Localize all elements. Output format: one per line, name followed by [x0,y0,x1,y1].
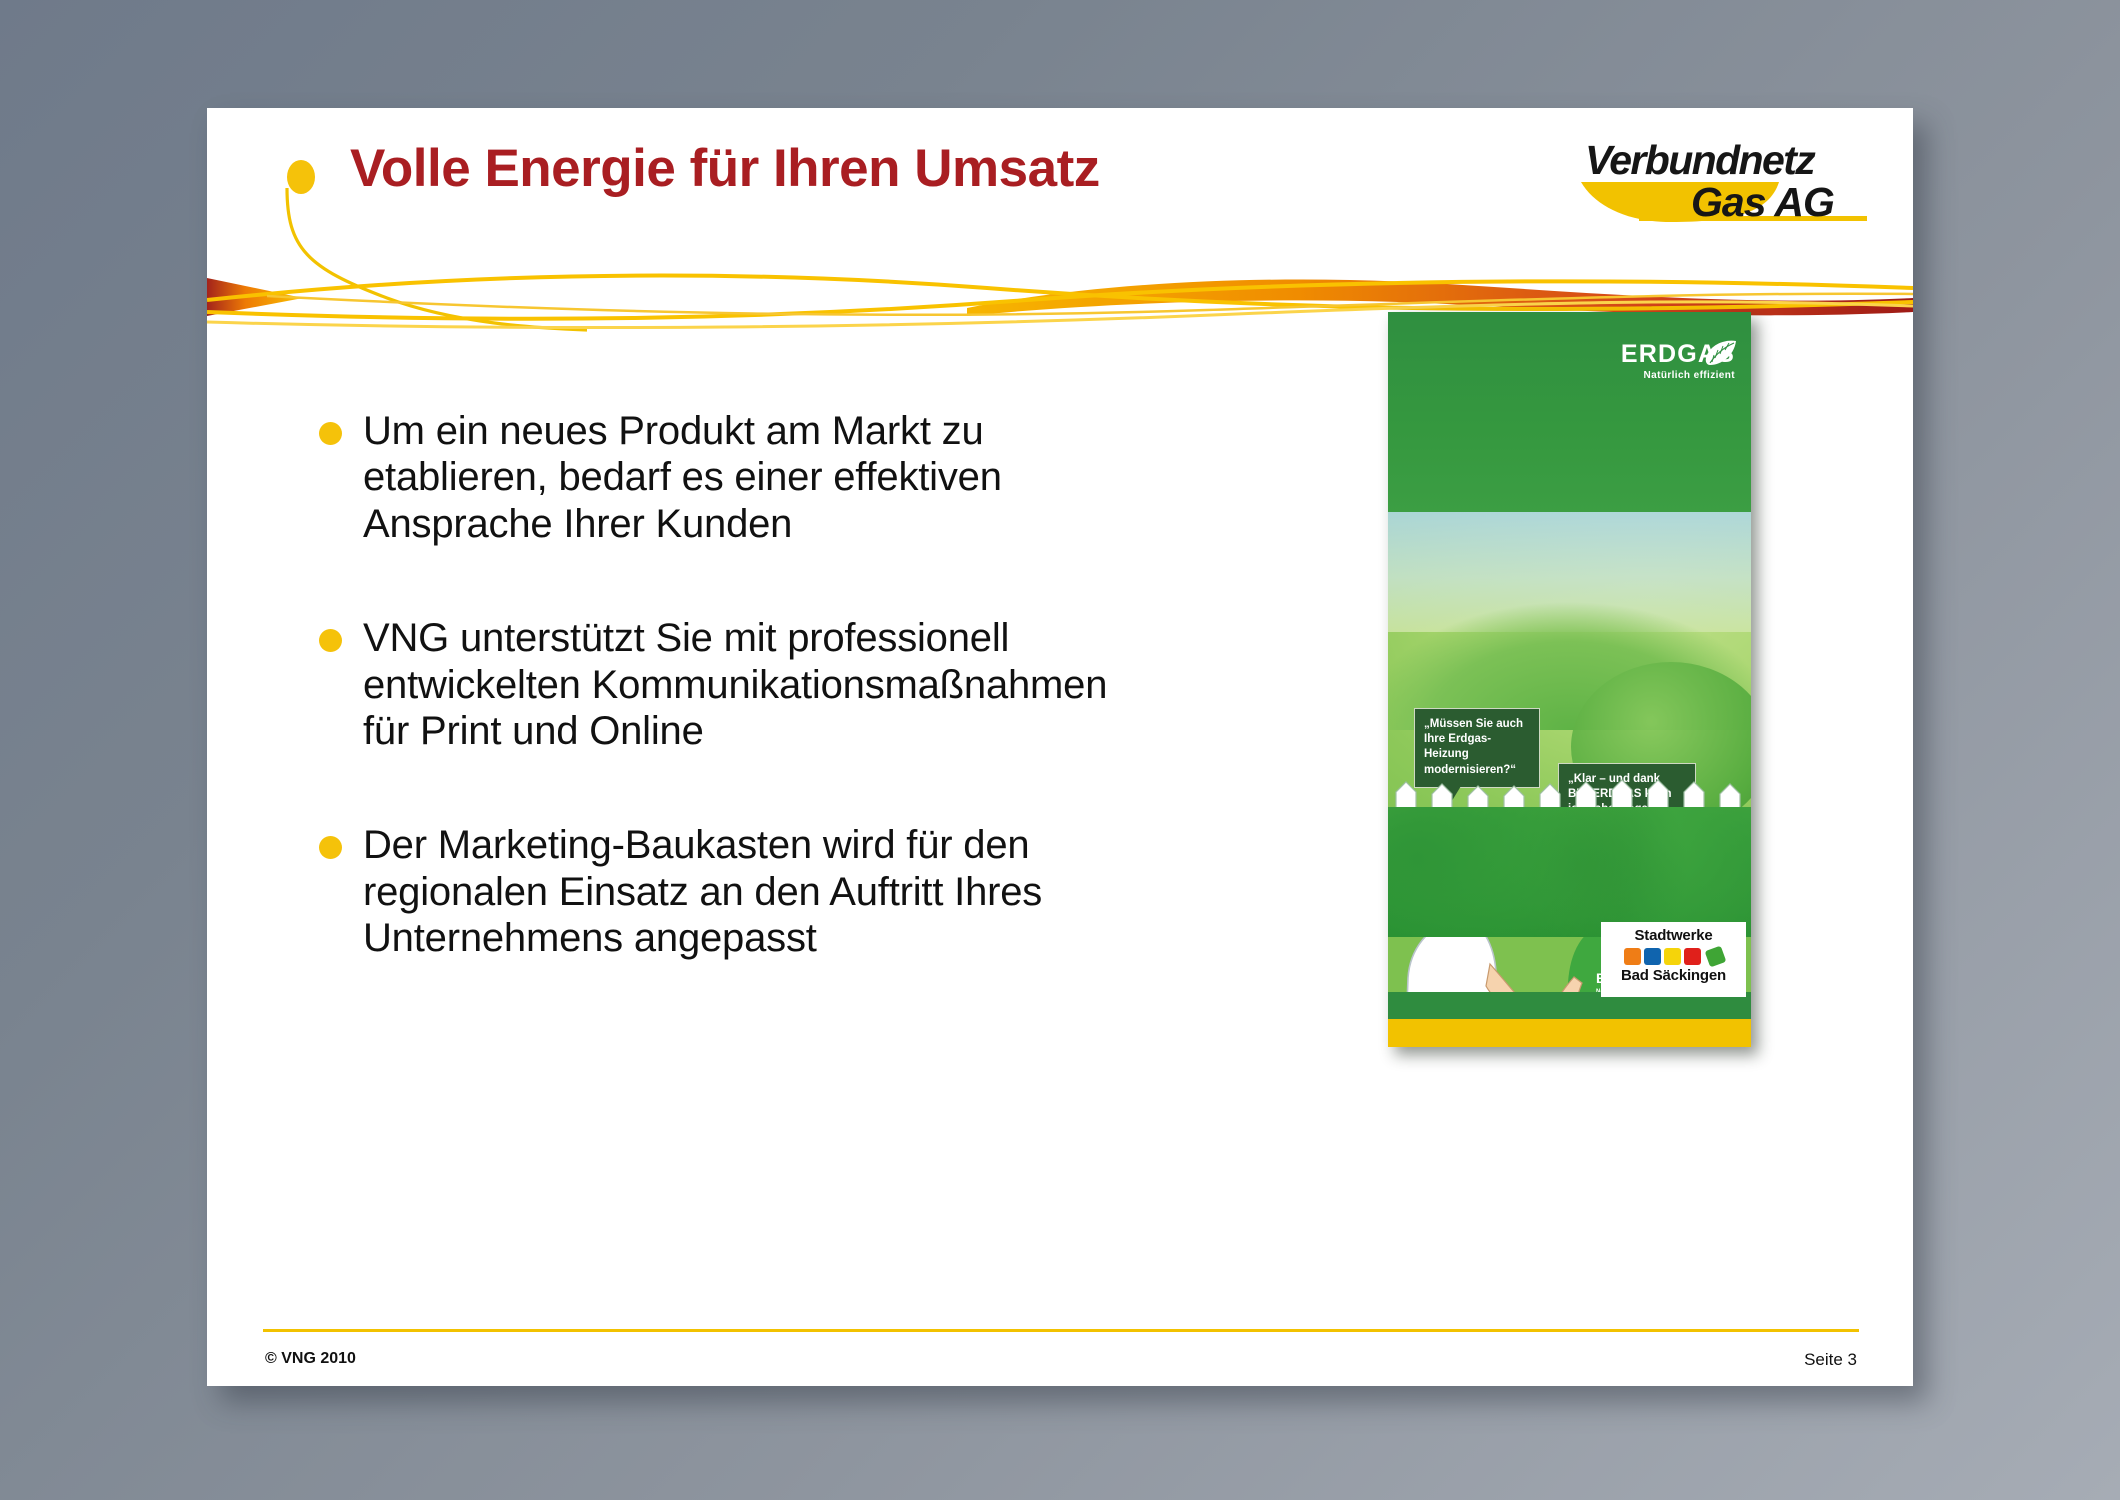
bullet-text: Der Marketing-Baukasten wird für den reg… [363,822,1139,961]
verbundnetz-gas-logo: Verbundnetz Gas AG [1579,130,1869,225]
erdgas-brand-lockup: ERDGAS Natürlich effizient [1621,342,1735,381]
svg-text:Gas AG: Gas AG [1691,179,1834,225]
hedge-illustration [1388,807,1751,937]
brochure-cover-image: ERDGAS Natürlich effizient [1388,312,1751,1047]
list-item: Der Marketing-Baukasten wird für den reg… [319,822,1139,961]
speech-bubble-customer-text: „Müssen Sie auch Ihre Erdgas-Heizung mod… [1424,718,1523,776]
bullet-dot-icon [319,836,342,859]
color-square-red [1684,948,1701,965]
brochure-illustration: ERDGAS Natürlich effizient „Müssen Sie a… [1388,512,1751,992]
brochure-header-band: ERDGAS Natürlich effizient [1388,312,1751,527]
brochure-bottom-bar [1388,1019,1751,1047]
bullet-list: Um ein neues Produkt am Markt zu etablie… [319,408,1139,962]
color-diamond-green-icon [1704,945,1726,967]
footer-divider [263,1329,1859,1332]
stadtwerke-partner-logo: Stadtwerke Bad Säckingen [1601,922,1746,997]
stadtwerke-logo-line1: Stadtwerke [1609,928,1738,944]
list-item: Um ein neues Produkt am Markt zu etablie… [319,408,1139,547]
list-item: VNG unterstützt Sie mit professionell en… [319,615,1139,754]
svg-text:Verbundnetz: Verbundnetz [1585,137,1816,183]
page-number: Seite 3 [1804,1350,1857,1370]
color-square-yellow [1664,948,1681,965]
presentation-slide: Volle Energie für Ihren Umsatz Verbundne… [207,108,1913,1386]
bullet-text: Um ein neues Produkt am Markt zu etablie… [363,408,1139,547]
bullet-dot-icon [319,629,342,652]
page-title: Volle Energie für Ihren Umsatz [350,138,1100,199]
erdgas-claim: Natürlich effizient [1621,370,1735,381]
copyright-text: © VNG 2010 [265,1350,356,1368]
color-square-blue [1644,948,1661,965]
color-square-orange [1624,948,1641,965]
leaf-icon [1703,338,1739,368]
bullet-text: VNG unterstützt Sie mit professionell en… [363,615,1139,754]
title-bullet-dot-icon [287,160,315,194]
bullet-dot-icon [319,422,342,445]
stadtwerke-color-squares [1609,948,1738,965]
stadtwerke-logo-line2: Bad Säckingen [1609,968,1738,984]
